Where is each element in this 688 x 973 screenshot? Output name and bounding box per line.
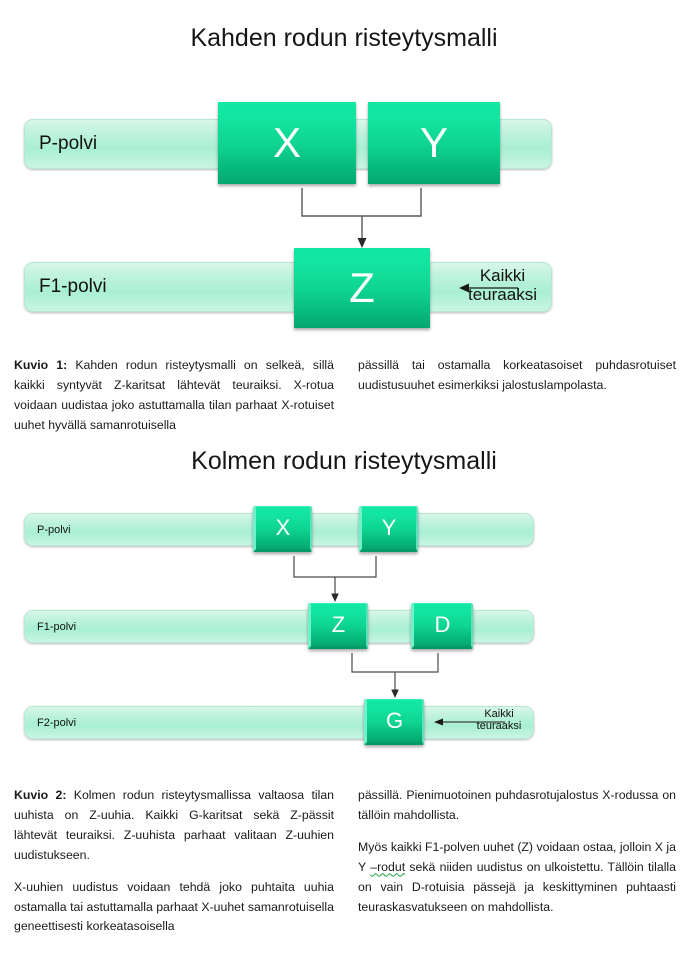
figure2-callout-line1: Kaikki xyxy=(466,708,532,720)
figure2-caption-spellcheck-word: –rodut xyxy=(370,860,405,874)
figure2-callout-text: Kaikki teuraaksi xyxy=(466,708,532,733)
figure2-caption-right-para2: Myös kaikki F1-polven uuhet (Z) voidaan … xyxy=(358,838,676,918)
figure2-diagram: P-polvi F1-polvi F2-polvi X Y Z D G xyxy=(0,0,688,300)
figure2-caption-left-para2: X-uuhien uudistus voidaan tehdä joko puh… xyxy=(14,878,334,938)
figure2-callout-line2: teuraaksi xyxy=(466,720,532,732)
figure2-caption-label: Kuvio 2: xyxy=(14,788,66,802)
figure2-caption-left: Kuvio 2: Kolmen rodun risteytysmallissa … xyxy=(14,786,334,937)
figure2-caption-right-para2-b: sekä niiden uudistus on ulkoistettu. Täl… xyxy=(358,860,676,914)
figure2-callout-arrowhead-icon xyxy=(434,719,443,726)
figure2-caption-right-para1: pässillä. Pienimuotoinen puhdasrotujalos… xyxy=(358,786,676,826)
figure2-caption-right: pässillä. Pienimuotoinen puhdasrotujalos… xyxy=(358,786,676,917)
